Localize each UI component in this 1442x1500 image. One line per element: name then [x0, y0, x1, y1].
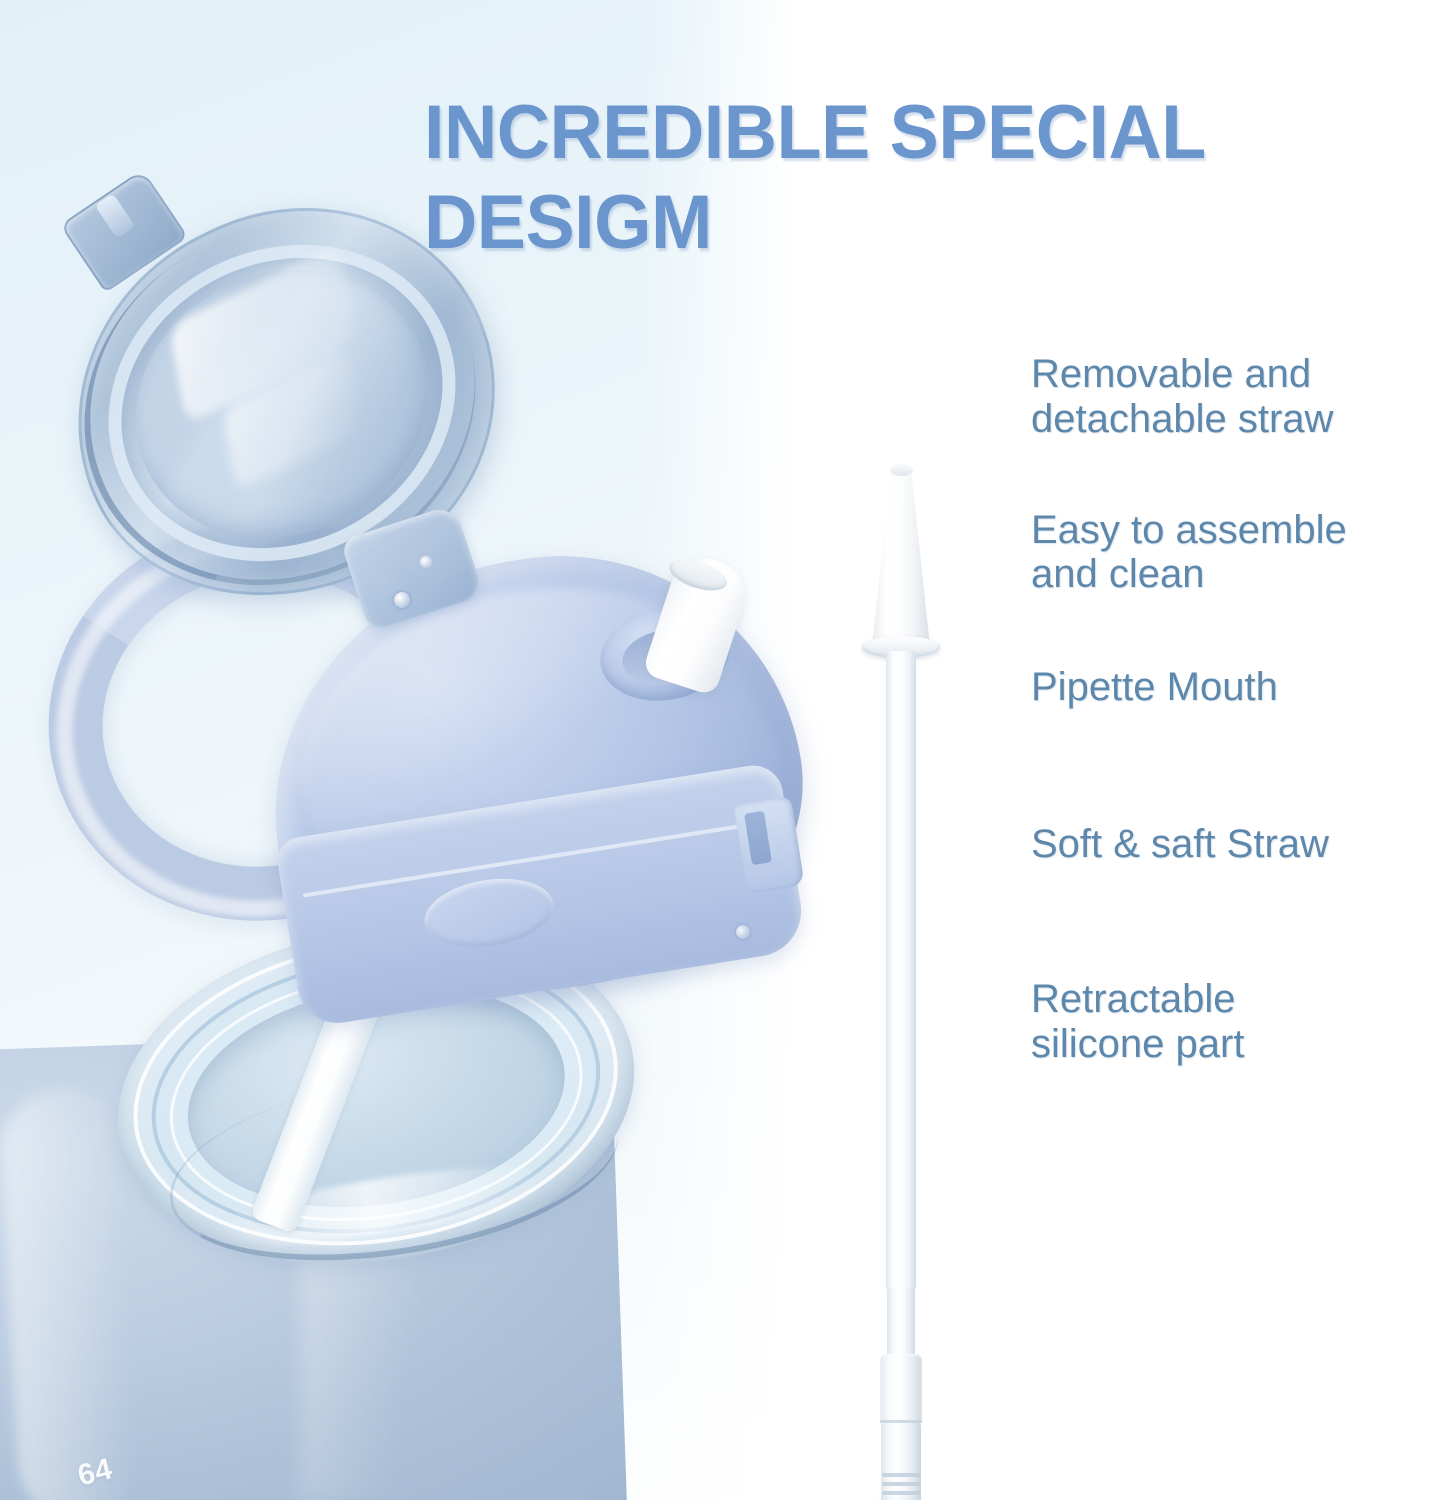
product-feature-image: 64 [0, 0, 1442, 1500]
feature-item-pipette-mouth: Pipette Mouth [1031, 665, 1442, 710]
feature-item-removable-straw: Removable and detachable straw [1031, 352, 1442, 442]
page-title: INCREDIBLE SPECIAL DESIGM [424, 88, 1404, 267]
feature-item-retractable-silicone: Retractable silicone part [1031, 977, 1442, 1067]
feature-item-easy-assemble: Easy to assemble and clean [1031, 508, 1442, 598]
feature-list: Removable and detachable straw Easy to a… [1031, 352, 1442, 1066]
feature-item-soft-straw: Soft & saft Straw [1031, 822, 1442, 867]
